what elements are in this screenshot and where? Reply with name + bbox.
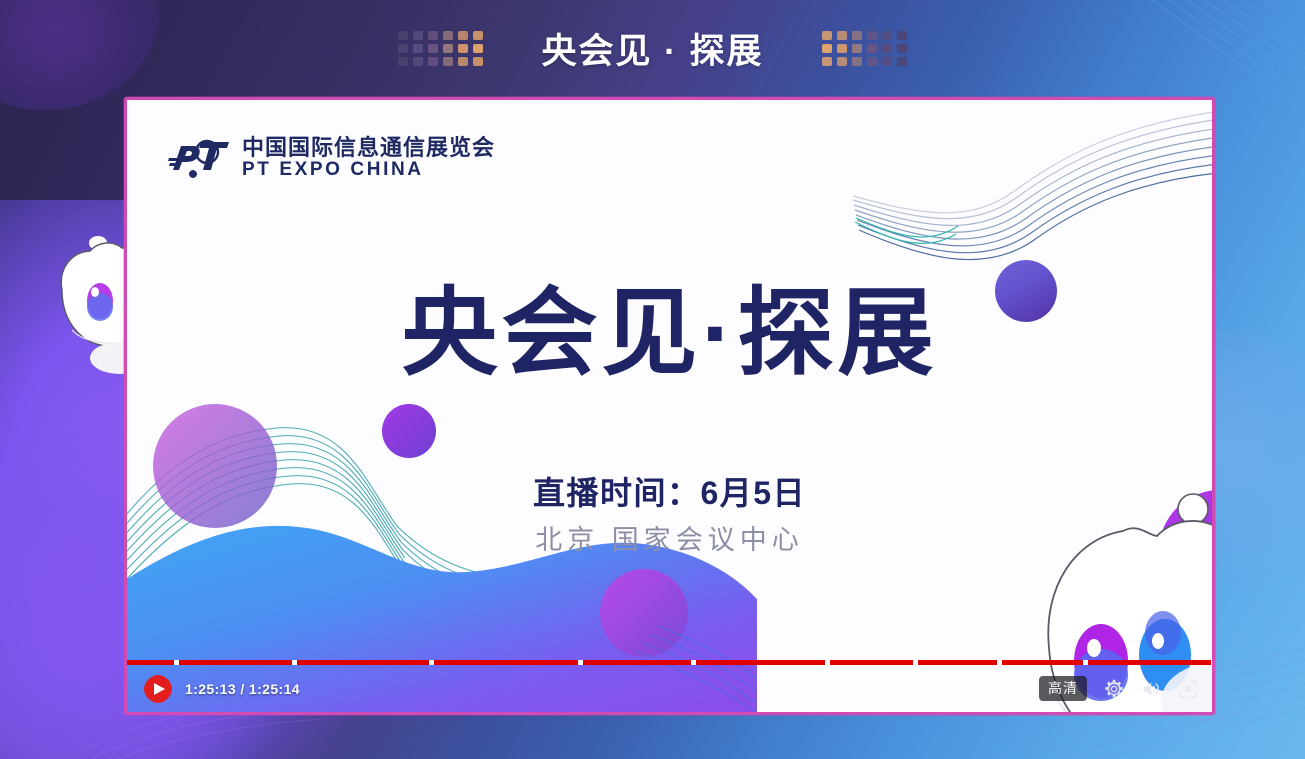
volume-icon[interactable] xyxy=(1141,679,1161,699)
header-bar: 央会见 · 探展 xyxy=(0,0,1305,97)
dot-cell xyxy=(837,44,847,53)
dot-cell xyxy=(413,57,423,66)
dot-cell xyxy=(398,44,408,53)
dot-grid-left-icon xyxy=(398,31,483,66)
dot-cell xyxy=(852,57,862,66)
dot-cell xyxy=(428,44,438,53)
dot-cell xyxy=(398,31,408,40)
dot-cell xyxy=(458,44,468,53)
dot-cell xyxy=(458,57,468,66)
dot-cell xyxy=(413,44,423,53)
time-display: 1:25:13 / 1:25:14 xyxy=(185,681,300,697)
logo-text-en: PT EXPO CHINA xyxy=(242,160,495,180)
pt-expo-logo: 中国国际信息通信展览会 PT EXPO CHINA xyxy=(167,136,495,180)
dot-cell xyxy=(413,31,423,40)
controls-bar: 1:25:13 / 1:25:14 高清 xyxy=(127,665,1212,712)
dot-cell xyxy=(897,31,907,40)
play-icon[interactable] xyxy=(143,674,173,704)
quality-badge[interactable]: 高清 xyxy=(1039,676,1087,701)
fullscreen-icon[interactable] xyxy=(1178,679,1198,699)
slide-title: 央会见·探展 xyxy=(127,286,1212,382)
controls-right-group: 高清 xyxy=(1039,676,1198,701)
dot-cell xyxy=(837,57,847,66)
dot-grid-right-icon xyxy=(822,31,907,66)
dot-cell xyxy=(882,57,892,66)
dot-cell xyxy=(428,31,438,40)
dot-cell xyxy=(443,57,453,66)
dot-cell xyxy=(458,31,468,40)
dot-cell xyxy=(473,44,483,53)
dot-cell xyxy=(428,57,438,66)
dot-cell xyxy=(473,31,483,40)
video-player[interactable]: 中国国际信息通信展览会 PT EXPO CHINA 央会见·探展 直播时间：6月… xyxy=(124,97,1215,715)
slide-subtitle-time: 直播时间：6月5日 xyxy=(127,468,1212,514)
dot-cell xyxy=(822,57,832,66)
dot-cell xyxy=(443,44,453,53)
slide-subtitle-place: 北京 国家会议中心 xyxy=(127,518,1212,557)
dot-cell xyxy=(852,44,862,53)
player-controls: 1:25:13 / 1:25:14 高清 xyxy=(127,660,1212,712)
logo-text-cn: 中国国际信息通信展览会 xyxy=(242,136,495,159)
dot-cell xyxy=(882,31,892,40)
dot-cell xyxy=(822,31,832,40)
pt-monogram-icon xyxy=(167,136,233,180)
dot-cell xyxy=(882,44,892,53)
dot-cell xyxy=(897,57,907,66)
dot-cell xyxy=(867,31,877,40)
dot-cell xyxy=(822,44,832,53)
dot-cell xyxy=(867,44,877,53)
dot-cell xyxy=(837,31,847,40)
dot-cell xyxy=(398,57,408,66)
video-slide-content: 中国国际信息通信展览会 PT EXPO CHINA 央会见·探展 直播时间：6月… xyxy=(127,100,1212,712)
dot-cell xyxy=(443,31,453,40)
dot-cell xyxy=(897,44,907,53)
page-title: 央会见 · 探展 xyxy=(541,23,763,74)
dot-cell xyxy=(867,57,877,66)
gear-icon[interactable] xyxy=(1104,679,1124,699)
dot-cell xyxy=(852,31,862,40)
dot-cell xyxy=(473,57,483,66)
